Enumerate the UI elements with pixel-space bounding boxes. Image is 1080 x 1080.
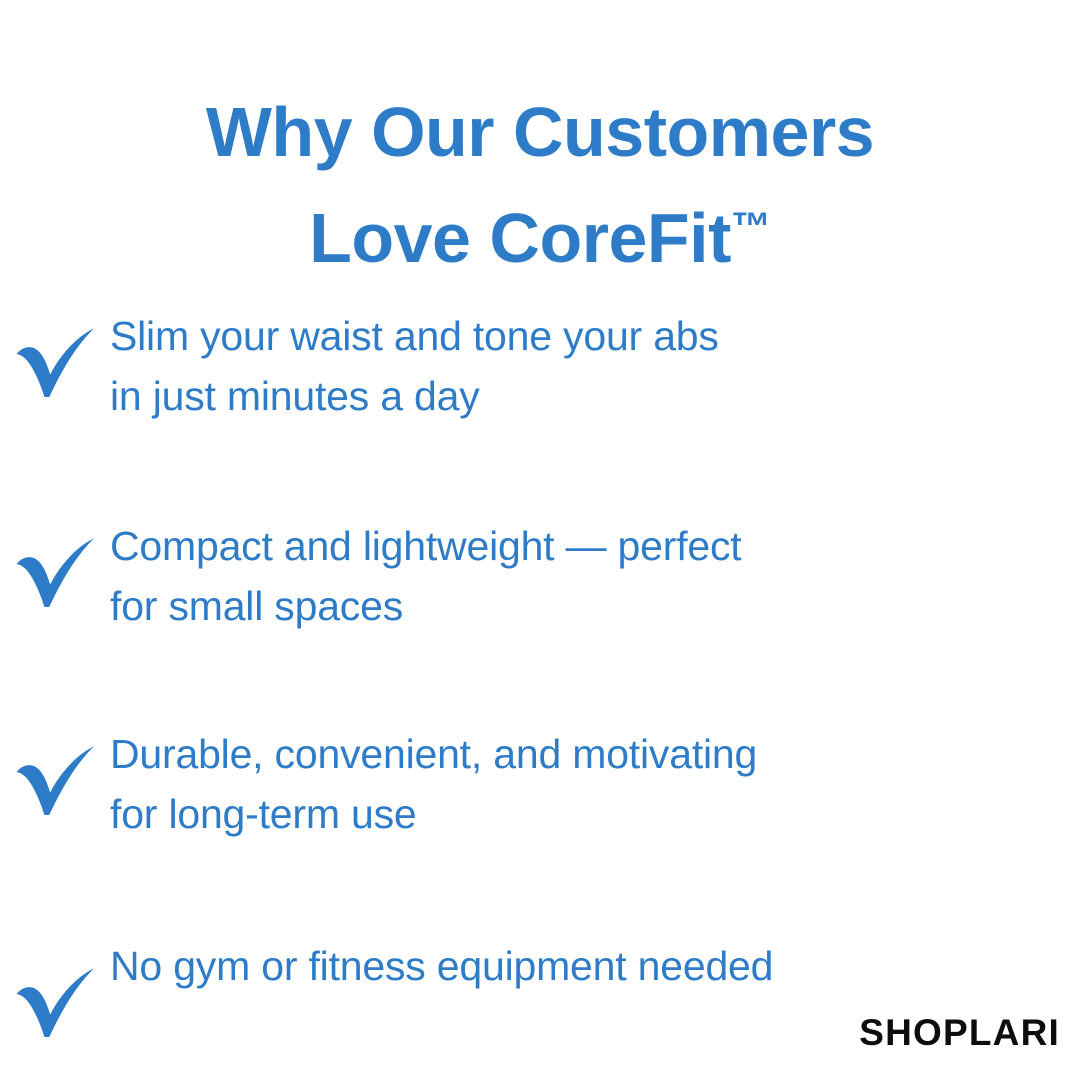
trademark-symbol: ™ — [731, 205, 771, 249]
list-item: Slim your waist and tone your abs in jus… — [0, 300, 1080, 426]
list-item-text: Durable, convenient, and motivating for … — [110, 718, 950, 844]
checkmark-container — [0, 300, 110, 398]
page-title-line-1: Why Our Customers — [0, 85, 1080, 180]
benefit-list: Slim your waist and tone your abs in jus… — [0, 300, 1080, 1038]
page-title-line-2: Love CoreFit™ — [0, 180, 1080, 286]
promo-card: Why Our Customers Love CoreFit™ Slim you… — [0, 0, 1080, 1080]
page-title: Why Our Customers Love CoreFit™ — [0, 85, 1080, 286]
brand-logo: SHOPLARI — [859, 1012, 1060, 1054]
list-item-text: Slim your waist and tone your abs in jus… — [110, 300, 950, 426]
list-item-line-2: for small spaces — [110, 576, 950, 636]
list-item-text: No gym or fitness equipment needed — [110, 930, 950, 996]
check-icon — [13, 534, 97, 608]
checkmark-container — [0, 930, 110, 1038]
list-item-line-1: Compact and lightweight — perfect — [110, 516, 950, 576]
list-item: Durable, convenient, and motivating for … — [0, 718, 1080, 844]
list-item-line-1: No gym or fitness equipment needed — [110, 936, 950, 996]
list-item: Compact and lightweight — perfect for sm… — [0, 510, 1080, 636]
check-icon — [13, 324, 97, 398]
check-icon — [13, 742, 97, 816]
page-title-product: Love CoreFit — [309, 199, 731, 277]
list-item-line-1: Slim your waist and tone your abs — [110, 306, 950, 366]
checkmark-container — [0, 718, 110, 816]
check-icon — [13, 964, 97, 1038]
list-item-line-1: Durable, convenient, and motivating — [110, 724, 950, 784]
list-item-line-2: for long-term use — [110, 784, 950, 844]
list-item-line-2: in just minutes a day — [110, 366, 950, 426]
list-item-text: Compact and lightweight — perfect for sm… — [110, 510, 950, 636]
checkmark-container — [0, 510, 110, 608]
